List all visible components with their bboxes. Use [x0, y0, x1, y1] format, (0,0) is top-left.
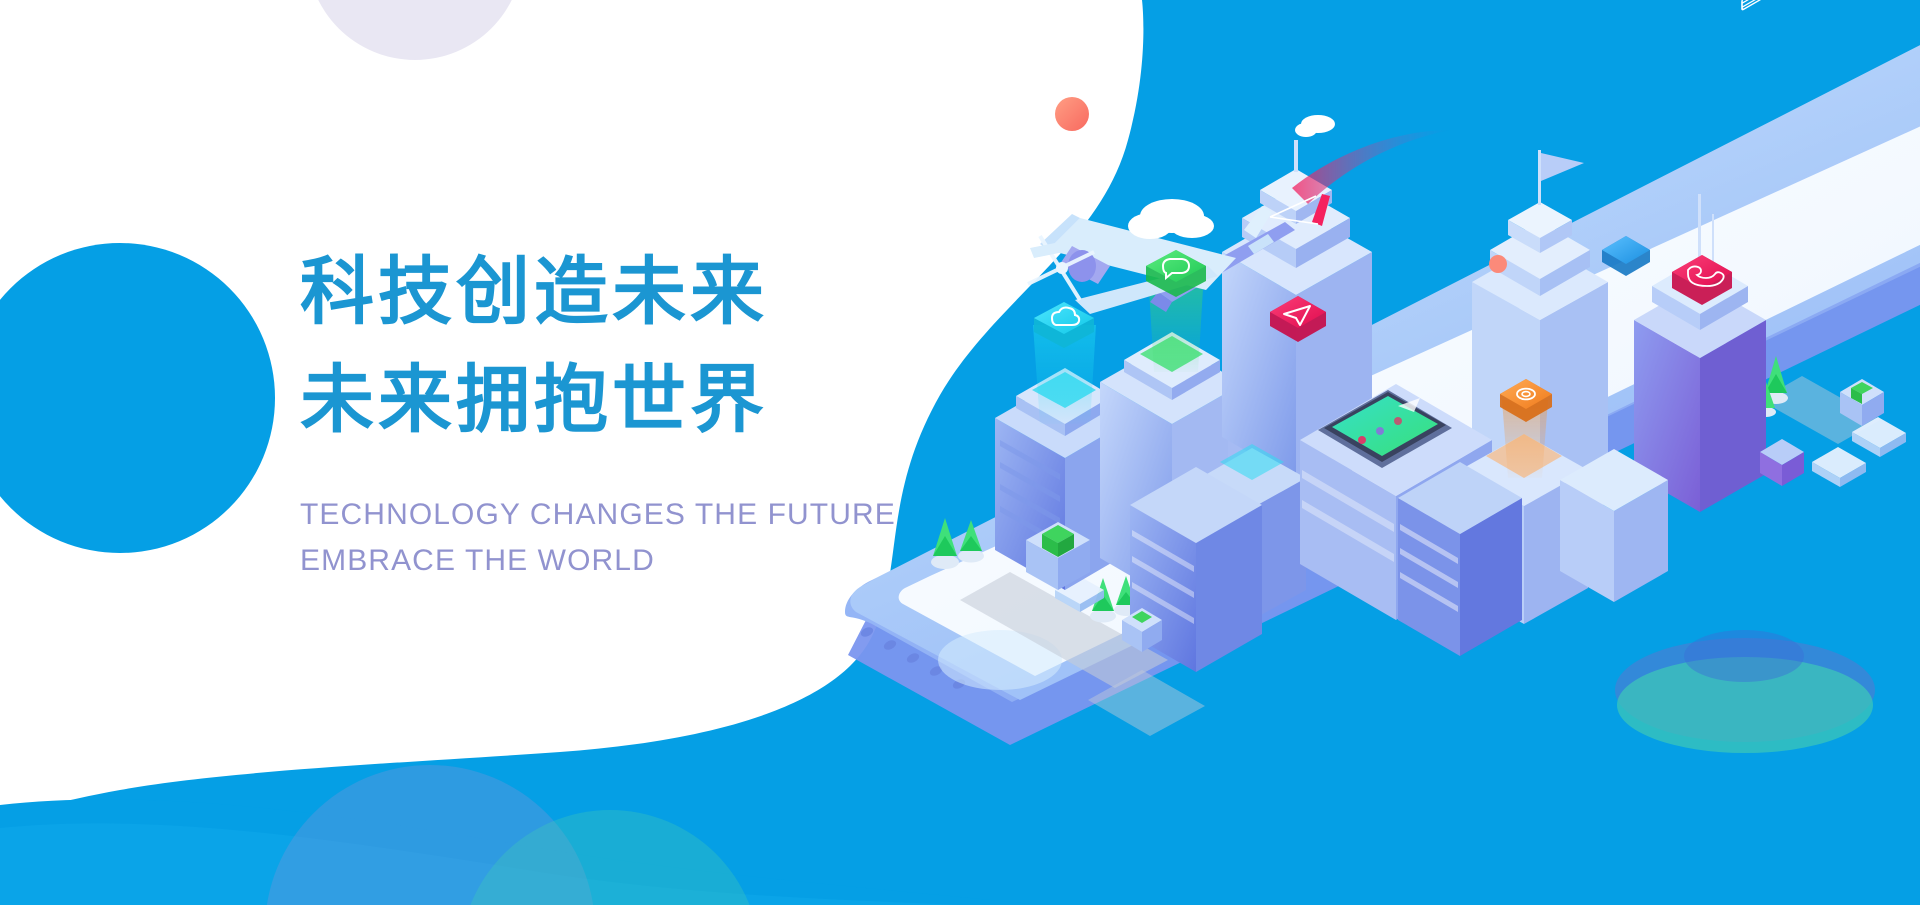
- banner-root: 科技创造未来 未来拥抱世界 TECHNOLOGY CHANGES THE FUT…: [0, 0, 1920, 905]
- news-badge: [1602, 0, 1762, 276]
- message-badge: [1146, 250, 1206, 297]
- headline-line-2: 未来拥抱世界: [300, 346, 1000, 454]
- settings-badge: [1500, 379, 1552, 422]
- subtitle-line-1: TECHNOLOGY CHANGES THE FUTURE: [300, 492, 1000, 538]
- phone-badge: [1672, 255, 1732, 305]
- headline-line-1: 科技创造未来: [300, 238, 1000, 346]
- subtitle-block: TECHNOLOGY CHANGES THE FUTURE EMBRACE TH…: [300, 492, 1000, 584]
- send-badge: [1270, 296, 1326, 342]
- cloud-badge: [1034, 302, 1094, 348]
- subtitle-line-2: EMBRACE THE WORLD: [300, 538, 1000, 584]
- hero-text-block: 科技创造未来 未来拥抱世界 TECHNOLOGY CHANGES THE FUT…: [300, 238, 1000, 584]
